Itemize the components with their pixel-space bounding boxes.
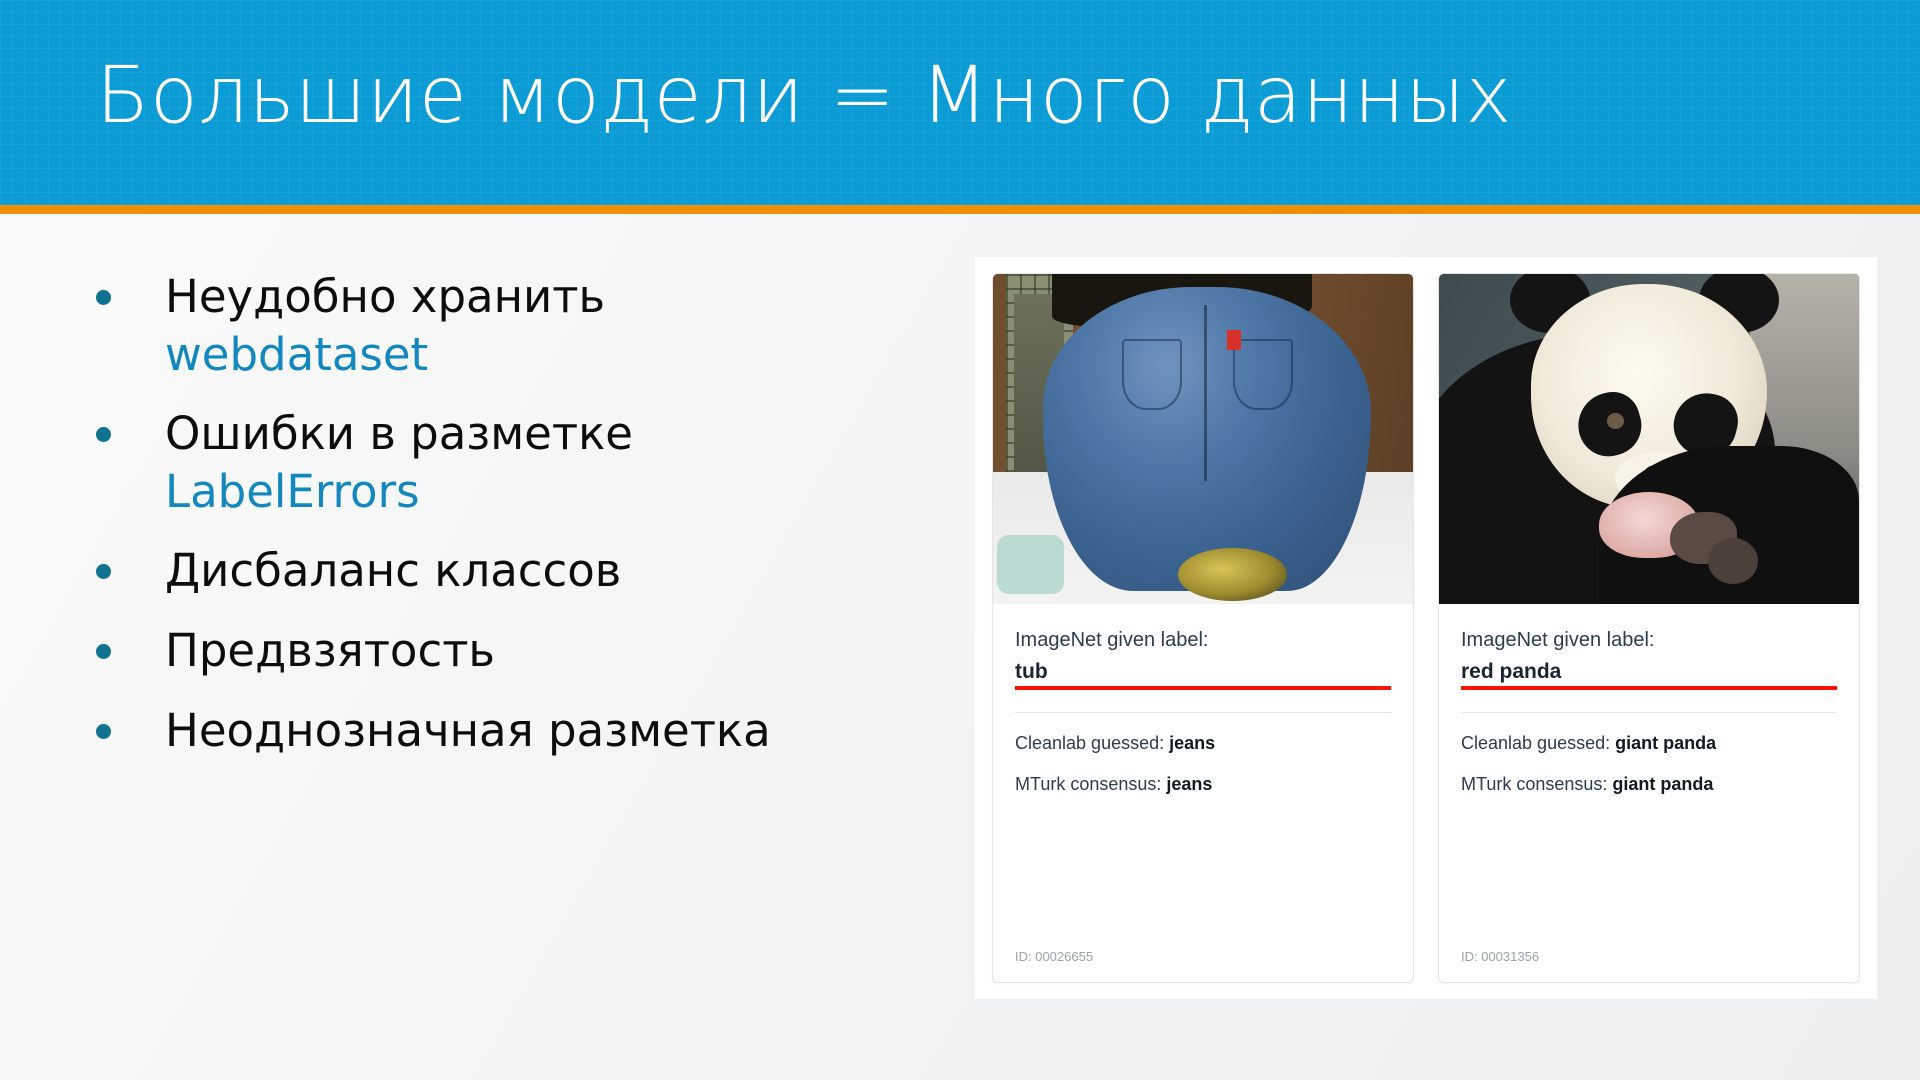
- bullet-list: Неудобно хранить webdataset Ошибки в раз…: [96, 268, 896, 781]
- card-body: ImageNet given label: red panda Cleanlab…: [1439, 604, 1859, 982]
- photo-ice-chunk: [997, 535, 1064, 594]
- bullet-dot-icon: [96, 564, 111, 579]
- mturk-caption: MTurk consensus:: [1461, 774, 1607, 794]
- header-orange-rule: [0, 205, 1920, 214]
- given-label-caption: ImageNet given label:: [1015, 626, 1391, 655]
- bullet-text: Дисбаланс классов: [165, 542, 621, 600]
- bullet-main-text: Неудобно хранить: [165, 270, 605, 323]
- mturk-caption: MTurk consensus:: [1015, 774, 1161, 794]
- bullet-main-text: Ошибки в разметке: [165, 407, 633, 460]
- list-item: Ошибки в разметке LabelErrors: [96, 405, 896, 520]
- bullet-text: Неоднозначная разметка: [165, 702, 771, 760]
- mturk-value: jeans: [1166, 774, 1212, 794]
- mturk-consensus-row: MTurk consensus: jeans: [1015, 774, 1391, 795]
- given-label-caption: ImageNet given label:: [1461, 626, 1837, 655]
- jeans-photo: [993, 274, 1413, 604]
- list-item: Неоднозначная разметка: [96, 702, 896, 760]
- panda-photo: [1439, 274, 1859, 604]
- slide: Большие модели = Много данных Неудобно х…: [0, 0, 1920, 1080]
- cleanlab-value: giant panda: [1615, 733, 1716, 753]
- photo-jeans-subject: [1043, 287, 1371, 591]
- bullet-dot-icon: [96, 644, 111, 659]
- mturk-consensus-row: MTurk consensus: giant panda: [1461, 774, 1837, 795]
- bullet-dot-icon: [96, 290, 111, 305]
- cleanlab-caption: Cleanlab guessed:: [1015, 733, 1164, 753]
- card-body: ImageNet given label: tub Cleanlab guess…: [993, 604, 1413, 982]
- bullet-dot-icon: [96, 724, 111, 739]
- bullet-main-text: Предвзятость: [165, 624, 495, 677]
- photo-panda-cub-paw-second: [1708, 538, 1758, 584]
- card-id: ID: 00026655: [1015, 949, 1391, 970]
- photo-jeans-pocket-right: [1233, 339, 1293, 410]
- bullet-text: Предвзятость: [165, 622, 495, 680]
- cleanlab-guess-row: Cleanlab guessed: giant panda: [1461, 733, 1837, 754]
- bullet-main-text: Дисбаланс классов: [165, 544, 621, 597]
- list-item: Дисбаланс классов: [96, 542, 896, 600]
- bullet-link-text[interactable]: LabelErrors: [165, 463, 633, 521]
- label-error-card: ImageNet given label: tub Cleanlab guess…: [992, 273, 1414, 983]
- bullet-text: Неудобно хранить webdataset: [165, 268, 605, 383]
- photo-jeans-pocket-left: [1122, 339, 1182, 410]
- bullet-link-text[interactable]: webdataset: [165, 326, 605, 384]
- label-error-card: ImageNet given label: red panda Cleanlab…: [1438, 273, 1860, 983]
- cleanlab-guess-row: Cleanlab guessed: jeans: [1015, 733, 1391, 754]
- page-title: Большие модели = Много данных: [96, 52, 1512, 142]
- given-label-value: red panda: [1461, 660, 1837, 690]
- cleanlab-value: jeans: [1169, 733, 1215, 753]
- photo-jeans-seam: [1204, 305, 1207, 481]
- bullet-dot-icon: [96, 427, 111, 442]
- card-divider: [1015, 712, 1391, 713]
- photo-shoe: [1178, 548, 1287, 601]
- list-item: Неудобно хранить webdataset: [96, 268, 896, 383]
- photo-jeans-red-tab: [1227, 330, 1241, 350]
- card-id: ID: 00031356: [1461, 949, 1837, 970]
- given-label-value: tub: [1015, 660, 1391, 690]
- label-error-cards-panel: ImageNet given label: tub Cleanlab guess…: [975, 257, 1877, 999]
- photo-panda-pupil: [1607, 413, 1624, 430]
- mturk-value: giant panda: [1612, 774, 1713, 794]
- list-item: Предвзятость: [96, 622, 896, 680]
- cleanlab-caption: Cleanlab guessed:: [1461, 733, 1610, 753]
- bullet-main-text: Неоднозначная разметка: [165, 704, 771, 757]
- bullet-text: Ошибки в разметке LabelErrors: [165, 405, 633, 520]
- card-divider: [1461, 712, 1837, 713]
